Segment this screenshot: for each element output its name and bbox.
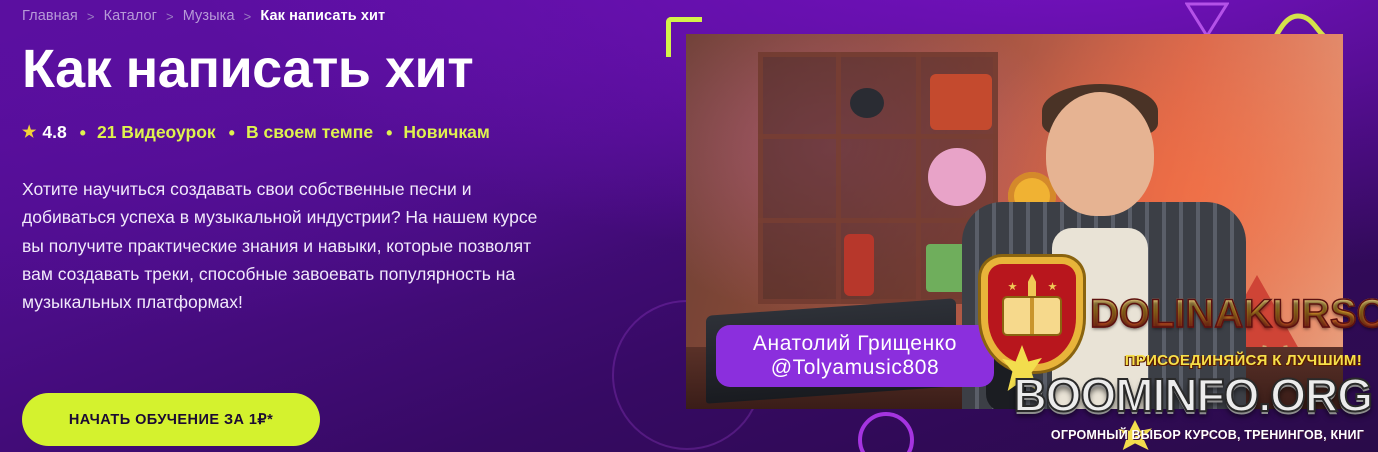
- course-description: Хотите научиться создавать свои собствен…: [22, 175, 542, 317]
- hero-banner: Главная > Каталог > Музыка > Как написат…: [0, 0, 1378, 452]
- circle-decoration-small: [858, 412, 914, 452]
- watermark-boominfo-subtitle: ОГРОМНЫЙ ВЫБОР КУРСОВ, ТРЕНИНГОВ, КНИГ: [1051, 428, 1364, 442]
- rating-value: 4.8: [42, 122, 66, 143]
- breadcrumb-separator: >: [166, 9, 174, 24]
- presenter-name: Анатолий Грищенко: [753, 332, 957, 356]
- shield-emblem-icon: [980, 258, 1084, 370]
- meta-lessons-count: 21 Видеоурок: [97, 122, 216, 143]
- meta-pace: В своем темпе: [246, 122, 373, 143]
- hero-left-column: Главная > Каталог > Музыка > Как написат…: [22, 0, 642, 452]
- watermark-join-text: ПРИСОЕДИНЯЙСЯ К ЛУЧШИМ!: [1125, 352, 1362, 369]
- star-icon: ★: [22, 125, 36, 141]
- bullet-separator: •: [386, 124, 392, 142]
- breadcrumb: Главная > Каталог > Музыка > Как написат…: [22, 0, 642, 24]
- start-course-button[interactable]: НАЧАТЬ ОБУЧЕНИЕ ЗА 1₽*: [22, 393, 320, 446]
- page-title: Как написать хит: [22, 42, 642, 96]
- triangle-decoration: [1185, 2, 1229, 38]
- rating-group: ★ 4.8: [22, 122, 67, 143]
- breadcrumb-item-current: Как написать хит: [260, 8, 385, 24]
- course-meta-row: ★ 4.8 • 21 Видеоурок • В своем темпе • Н…: [22, 122, 642, 143]
- bullet-separator: •: [229, 124, 235, 142]
- breadcrumb-separator: >: [244, 9, 252, 24]
- presenter-handle: @Tolyamusic808: [771, 356, 940, 380]
- presenter-nametag: Анатолий Грищенко @Tolyamusic808: [716, 325, 994, 387]
- breadcrumb-separator: >: [87, 9, 95, 24]
- breadcrumb-item-home[interactable]: Главная: [22, 8, 78, 24]
- bullet-separator: •: [80, 124, 86, 142]
- breadcrumb-item-catalog[interactable]: Каталог: [104, 8, 157, 24]
- watermark-dolinakursov-text: DOLINAKURSOV: [1090, 294, 1378, 334]
- breadcrumb-item-music[interactable]: Музыка: [183, 8, 235, 24]
- meta-level: Новичкам: [403, 122, 489, 143]
- watermark-boominfo: BOOMINFO.ORG: [1013, 372, 1372, 418]
